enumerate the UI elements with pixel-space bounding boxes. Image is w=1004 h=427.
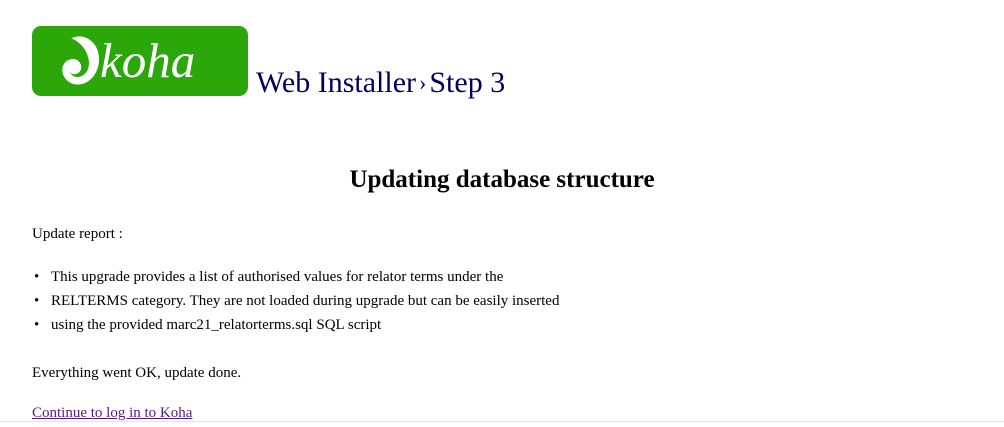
koha-leaf-icon	[54, 36, 102, 86]
update-report-label: Update report :	[32, 225, 123, 243]
update-report-list: This upgrade provides a list of authoris…	[32, 265, 559, 337]
list-item: RELTERMS category. They are not loaded d…	[51, 289, 559, 313]
status-message: Everything went OK, update done.	[32, 364, 241, 382]
list-item: using the provided marc21_relatorterms.s…	[51, 313, 559, 337]
list-item: This upgrade provides a list of authoris…	[51, 265, 559, 289]
breadcrumb: Web Installer›Step 3	[256, 66, 505, 100]
breadcrumb-step: Step 3	[429, 66, 505, 99]
koha-logo[interactable]: koha	[32, 26, 248, 96]
page-header: koha Web Installer›Step 3	[0, 0, 1004, 120]
bottom-divider	[0, 421, 1004, 422]
koha-wordmark: koha	[100, 28, 248, 94]
main-content: Updating database structure Update repor…	[0, 120, 1004, 194]
continue-to-login-link[interactable]: Continue to log in to Koha	[32, 404, 192, 422]
page-title: Updating database structure	[0, 120, 1004, 194]
breadcrumb-web-installer: Web Installer	[256, 66, 416, 99]
breadcrumb-separator-icon: ›	[416, 70, 429, 95]
